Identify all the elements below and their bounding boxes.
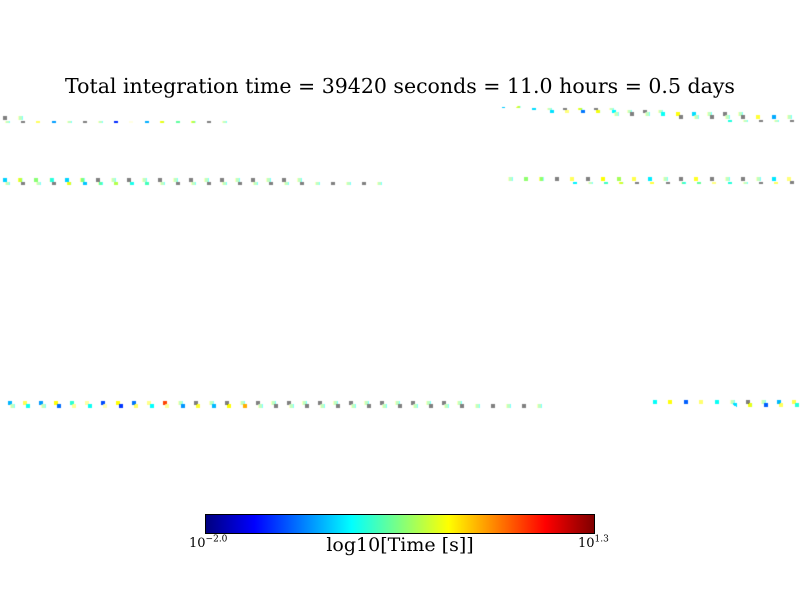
- colorbar: [205, 514, 595, 534]
- mollweide-sky-map: [0, 100, 800, 490]
- colorbar-axis-label: log10[Time [s]]: [0, 534, 800, 556]
- sky-map-figure: Total integration time = 39420 seconds =…: [0, 0, 800, 600]
- colorbar-gradient: [205, 514, 595, 534]
- page-title: Total integration time = 39420 seconds =…: [0, 74, 800, 98]
